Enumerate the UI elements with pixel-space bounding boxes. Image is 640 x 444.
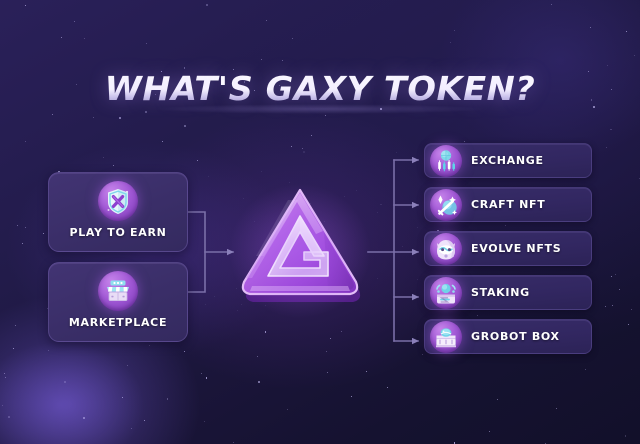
- card-label: CRAFT NFT: [471, 198, 545, 211]
- candlestick-chart-icon: [430, 145, 462, 177]
- card-label: PLAY TO EARN: [49, 226, 187, 239]
- outputs-column: EXCHANGE: [424, 143, 592, 363]
- card-marketplace[interactable]: MARKETPLACE: [48, 262, 188, 342]
- market-stall-icon: [98, 271, 138, 311]
- card-evolve-nfts[interactable]: EVOLVE NFTS: [424, 231, 592, 266]
- card-grobot-box[interactable]: GROBOT BOX: [424, 319, 592, 354]
- card-craft-nft[interactable]: CRAFT NFT: [424, 187, 592, 222]
- card-label: GROBOT BOX: [471, 330, 560, 343]
- page-title: WHAT'S GAXY TOKEN?: [0, 72, 640, 105]
- card-exchange[interactable]: EXCHANGE: [424, 143, 592, 178]
- card-staking[interactable]: STAKING: [424, 275, 592, 310]
- card-label: STAKING: [471, 286, 530, 299]
- card-label: MARKETPLACE: [49, 316, 187, 329]
- card-label: EXCHANGE: [471, 154, 544, 167]
- creature-icon: [430, 233, 462, 265]
- coin-vault-icon: [430, 277, 462, 309]
- infographic-canvas: WHAT'S GAXY TOKEN?: [0, 0, 640, 444]
- token-glow: [202, 158, 398, 344]
- treasure-chest-icon: [430, 321, 462, 353]
- sword-sparkle-icon: [430, 189, 462, 221]
- shield-swords-icon: [98, 181, 138, 221]
- card-label: EVOLVE NFTS: [471, 242, 561, 255]
- inputs-column: PLAY TO EARN: [48, 172, 188, 352]
- card-play-to-earn[interactable]: PLAY TO EARN: [48, 172, 188, 252]
- gaxy-token-logo: [228, 182, 372, 318]
